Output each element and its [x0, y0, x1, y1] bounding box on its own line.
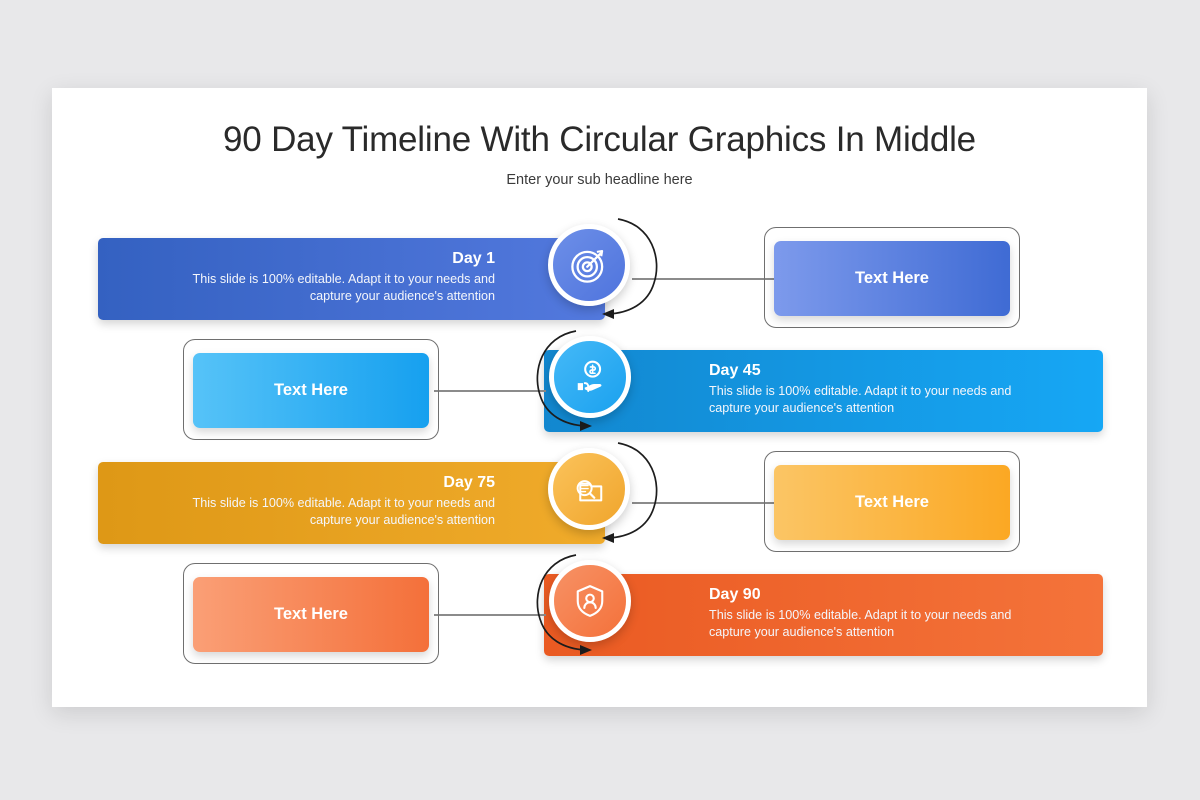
milestone-text-2: Day 45 This slide is 100% editable. Adap…: [709, 350, 1048, 432]
slide-canvas: 90 Day Timeline With Circular Graphics I…: [52, 88, 1147, 707]
target-icon: [568, 244, 610, 286]
text-here-button-2[interactable]: Text Here: [193, 353, 429, 428]
milestone-circle-2[interactable]: [549, 336, 631, 418]
timeline-row-4: Text Here Day 90 This slide is 100% edit…: [52, 557, 1147, 669]
milestone-circle-4[interactable]: [549, 560, 631, 642]
text-here-button-3[interactable]: Text Here: [774, 465, 1010, 540]
timeline-row-3: Text Here Day 75 This slide is 100% edit…: [52, 445, 1147, 557]
timeline-row-1: Text Here Day 1 This slide is 100% edita…: [52, 221, 1147, 333]
timeline-row-2: Text Here Day 45 This slide is 100% edit…: [52, 333, 1147, 445]
text-here-label-4: Text Here: [274, 605, 348, 624]
milestone-day-label-3: Day 75: [158, 473, 495, 492]
text-here-label-1: Text Here: [855, 269, 929, 288]
milestone-day-label-2: Day 45: [709, 361, 1048, 380]
milestone-text-1: Day 1 This slide is 100% editable. Adapt…: [158, 238, 495, 320]
text-here-button-4[interactable]: Text Here: [193, 577, 429, 652]
milestone-description-3: This slide is 100% editable. Adapt it to…: [158, 495, 495, 528]
milestone-day-label-4: Day 90: [709, 585, 1048, 604]
milestone-description-1: This slide is 100% editable. Adapt it to…: [158, 271, 495, 304]
text-here-label-2: Text Here: [274, 381, 348, 400]
milestone-circle-1[interactable]: [548, 224, 630, 306]
milestone-text-4: Day 90 This slide is 100% editable. Adap…: [709, 574, 1048, 656]
milestone-text-3: Day 75 This slide is 100% editable. Adap…: [158, 462, 495, 544]
shield-person-icon: [569, 580, 611, 622]
page-title: 90 Day Timeline With Circular Graphics I…: [52, 120, 1147, 160]
text-here-label-3: Text Here: [855, 493, 929, 512]
page-subtitle: Enter your sub headline here: [52, 172, 1147, 188]
milestone-day-label-1: Day 1: [158, 249, 495, 268]
milestone-description-2: This slide is 100% editable. Adapt it to…: [709, 383, 1048, 416]
text-here-button-1[interactable]: Text Here: [774, 241, 1010, 316]
slide-stage: 90 Day Timeline With Circular Graphics I…: [0, 0, 1200, 800]
milestone-description-4: This slide is 100% editable. Adapt it to…: [709, 607, 1048, 640]
hand-money-icon: [569, 356, 611, 398]
folder-search-icon: [568, 468, 610, 510]
milestone-circle-3[interactable]: [548, 448, 630, 530]
